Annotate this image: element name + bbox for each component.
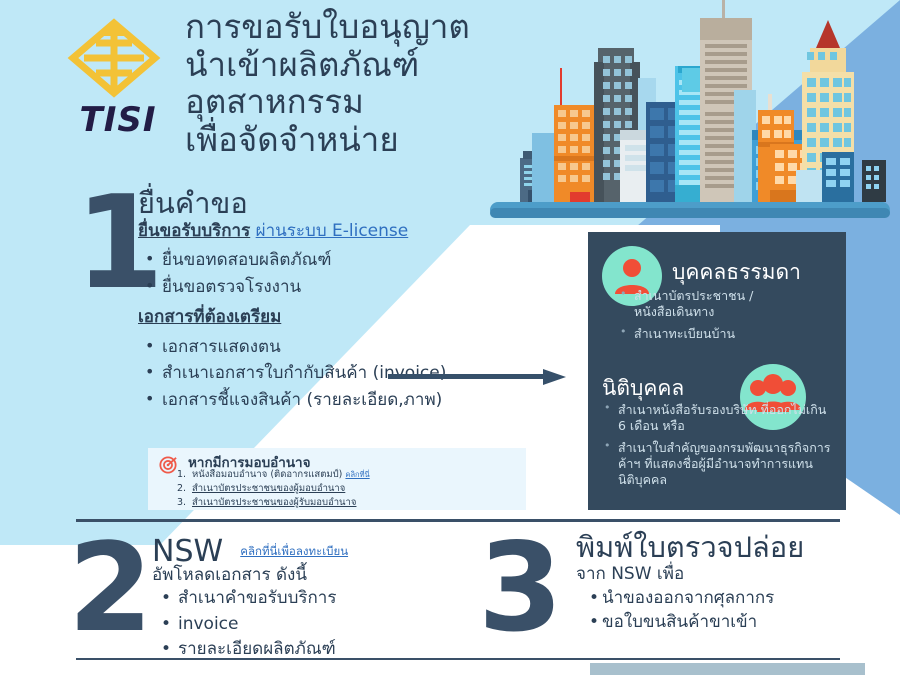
- list-item: หนังสือมอบอำนาจ (ติดอากรแสตมป์) คลิกที่น…: [192, 468, 370, 482]
- step-2-number: 2: [68, 527, 153, 649]
- infographic-page: TISI การขอรับใบอนุญาต นำเข้าผลิตภัณฑ์ อุ…: [0, 0, 900, 675]
- step-2-upload-list: สำเนาคำขอรับบริการ invoice รายละเอียดผลิ…: [152, 586, 472, 663]
- step-1-subheading: ยื่นขอรับบริการ ผ่านระบบ E-license: [138, 220, 558, 243]
- step-3-subheading: จาก NSW เพื่อ: [576, 563, 896, 585]
- note-item-3-text: สำเนาบัตรประชาชนของผู้รับมอบอำนาจ: [192, 497, 356, 508]
- note-click-here-link[interactable]: คลิกที่นี่: [345, 470, 369, 479]
- list-item: ขอใบขนสินค้าขาเข้า: [602, 610, 896, 635]
- step-1-service-list: ยื่นขอทดสอบผลิตภัณฑ์ ยื่นขอตรวจโรงงาน: [138, 247, 558, 300]
- juristic-document-list: สำเนาหนังสือรับรองบริษัท ที่ออกไม่เกิน 6…: [602, 402, 838, 493]
- step-3-heading: พิมพ์ใบตรวจปล่อย: [576, 532, 896, 562]
- note-list: หนังสือมอบอำนาจ (ติดอากรแสตมป์) คลิกที่น…: [174, 468, 370, 509]
- person-document-list: สำเนาบัตรประชาชน / หนังสือเดินทาง สำเนาท…: [618, 288, 798, 347]
- list-item: นำของออกจากศุลกากร: [602, 586, 896, 611]
- applicant-types-panel: บุคคลธรรมดา สำเนาบัตรประชาชน / หนังสือเด…: [588, 232, 846, 510]
- step-1-service-label: ยื่นขอรับบริการ: [138, 221, 250, 241]
- brand-logo-text: TISI: [58, 100, 178, 140]
- section-divider: [76, 519, 840, 522]
- page-title: การขอรับใบอนุญาต นำเข้าผลิตภัณฑ์ อุตสาหก…: [185, 8, 515, 158]
- list-item: เอกสารแสดงตน: [162, 334, 558, 360]
- list-item: สำเนาทะเบียนบ้าน: [618, 326, 798, 342]
- step-1-documents-heading: เอกสารที่ต้องเตรียม: [138, 303, 558, 330]
- list-item: สำเนาใบสำคัญของกรมพัฒนาธุรกิจการค้าฯ ที่…: [602, 440, 838, 489]
- note-item-2-text: สำเนาบัตรประชาชนของผู้มอบอำนาจ: [192, 483, 345, 494]
- step-3-purpose-list: นำของออกจากศุลกากร ขอใบขนสินค้าขาเข้า: [576, 586, 896, 635]
- tisi-diamond-logo-icon: [66, 18, 162, 98]
- step-1-heading: ยื่นคำขอ: [138, 188, 558, 218]
- list-item: สำเนาคำขอรับบริการ: [178, 586, 472, 612]
- right-arrow-icon: [388, 368, 568, 386]
- step-3-content: พิมพ์ใบตรวจปล่อย จาก NSW เพื่อ นำของออกจ…: [576, 532, 896, 635]
- list-item: สำเนาบัตรประชาชนของผู้มอบอำนาจ: [192, 482, 370, 496]
- bottom-placeholder-box: [590, 663, 865, 675]
- step-2-content: NSW คลิกที่นี่เพื่อลงทะเบียน อัพโหลดเอกส…: [152, 534, 472, 663]
- title-line-3: อุตสาหกรรม: [185, 83, 515, 121]
- title-line-1: การขอรับใบอนุญาต: [185, 8, 515, 46]
- list-item: สำเนาหนังสือรับรองบริษัท ที่ออกไม่เกิน 6…: [602, 402, 838, 435]
- bottom-divider: [76, 658, 840, 660]
- list-item: ยื่นขอทดสอบผลิตภัณฑ์: [162, 247, 558, 273]
- note-item-1-text: หนังสือมอบอำนาจ (ติดอากรแสตมป์): [192, 469, 342, 480]
- nsw-register-link[interactable]: คลิกที่นี่เพื่อลงทะเบียน: [240, 544, 348, 558]
- step-2-heading: NSW: [152, 534, 223, 569]
- list-item: สำเนาบัตรประชาชน / หนังสือเดินทาง: [618, 288, 798, 321]
- authorization-note-box: หากมีการมอบอำนาจ หนังสือมอบอำนาจ (ติดอาก…: [148, 448, 526, 510]
- list-item: เอกสารชี้แจงสินค้า (รายละเอียด,ภาพ): [162, 387, 558, 413]
- juristic-heading: นิติบุคคล: [602, 372, 684, 405]
- brand-logo: TISI: [58, 18, 178, 143]
- list-item: invoice: [178, 612, 472, 638]
- person-heading: บุคคลธรรมดา: [672, 256, 801, 289]
- step-3-number: 3: [478, 527, 563, 649]
- step-2-heading-row: NSW คลิกที่นี่เพื่อลงทะเบียน: [152, 534, 472, 569]
- e-license-link[interactable]: ผ่านระบบ E-license: [256, 221, 409, 241]
- title-line-4: เพื่อจัดจำหน่าย: [185, 121, 515, 159]
- list-item: ยื่นขอตรวจโรงงาน: [162, 274, 558, 300]
- list-item: สำเนาบัตรประชาชนของผู้รับมอบอำนาจ: [192, 496, 370, 510]
- title-line-2: นำเข้าผลิตภัณฑ์: [185, 46, 515, 84]
